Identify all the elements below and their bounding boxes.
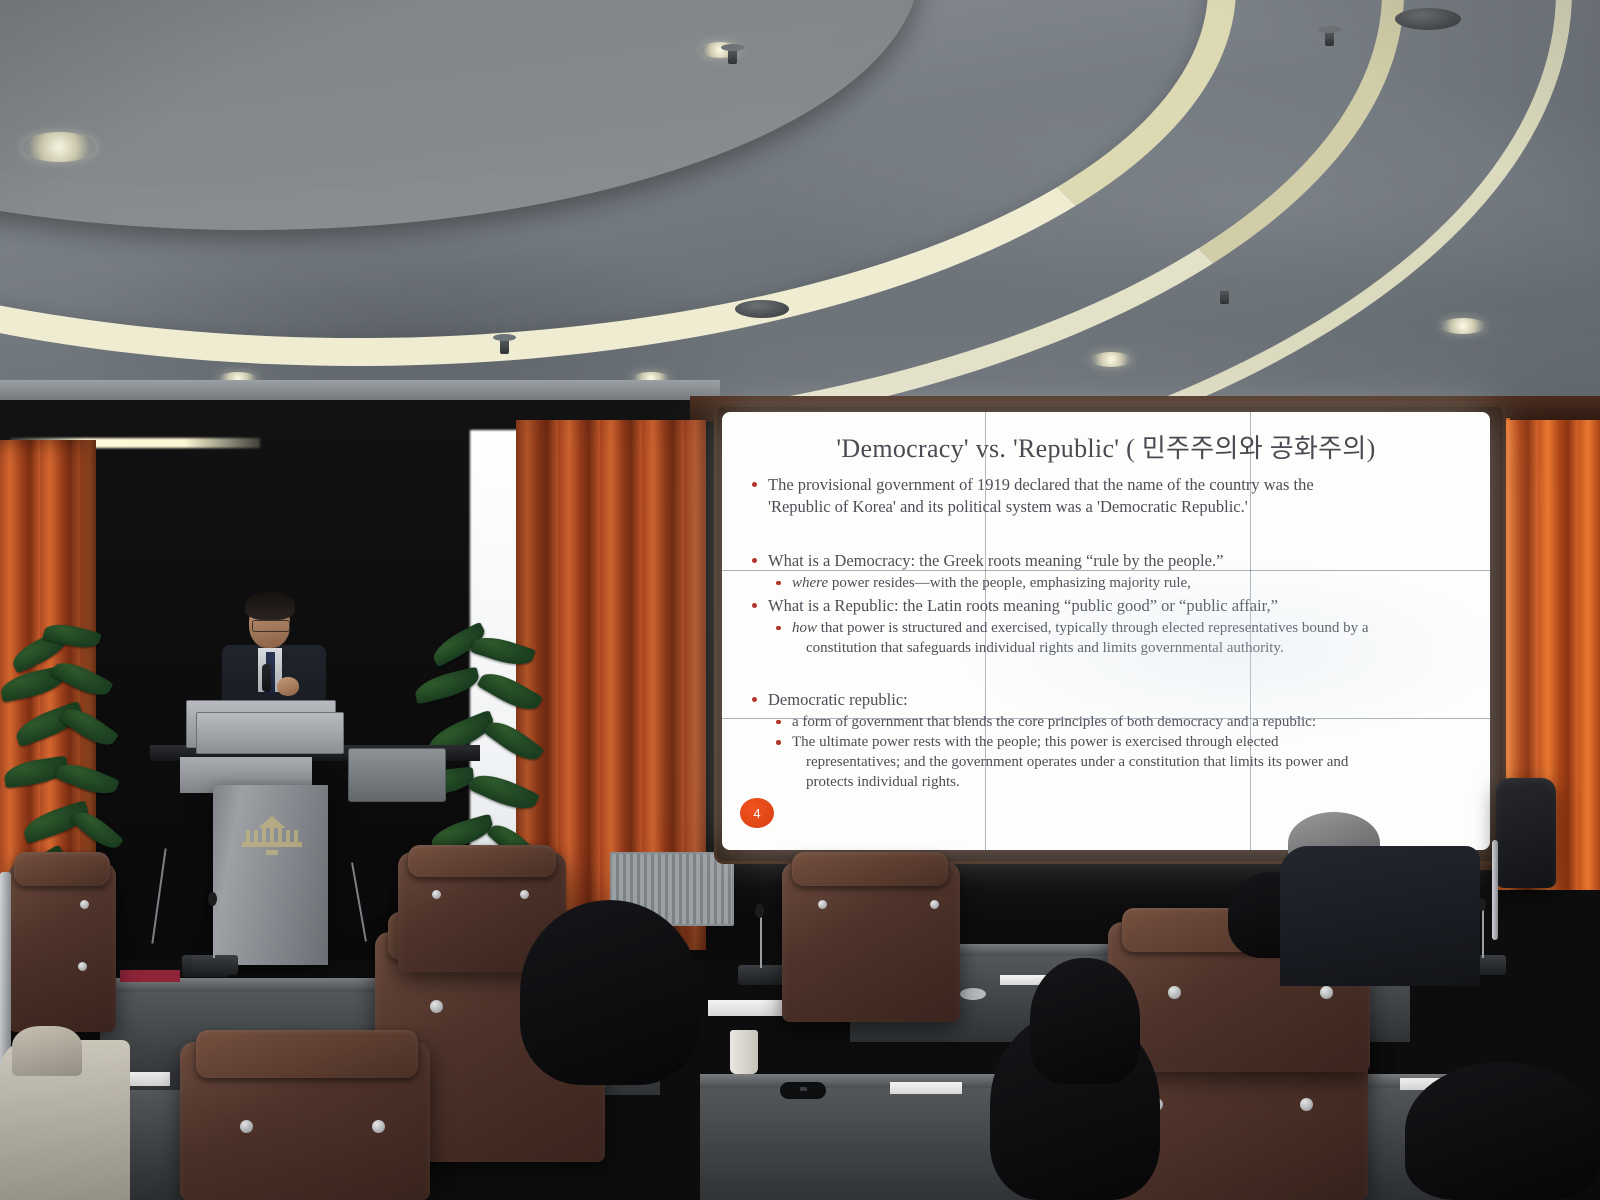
bullet-text-cont: 'Republic of Korea' and its political sy… xyxy=(768,496,1472,518)
ceiling-speaker-icon xyxy=(735,300,789,318)
conference-microphone-neck xyxy=(1482,906,1484,958)
ceiling-speaker-icon xyxy=(1395,8,1461,30)
presentation-screen[interactable]: 'Democracy' vs. 'Republic' ( 민주주의와 공화주의)… xyxy=(722,412,1490,850)
glasses-icon xyxy=(252,620,290,632)
sprinkler-icon xyxy=(1325,30,1334,46)
conference-microphone-base xyxy=(738,965,786,985)
sprinkler-icon xyxy=(500,338,509,354)
screen-glare xyxy=(962,562,1490,742)
coffee-cup xyxy=(730,1030,758,1074)
presenter-hand xyxy=(277,677,299,696)
conference-microphone-neck xyxy=(213,900,215,958)
red-notebook xyxy=(120,970,180,982)
downlight-icon xyxy=(1090,352,1132,367)
bullet-text-cont: representatives; and the government oper… xyxy=(792,753,1472,773)
audience-member-shoulder xyxy=(12,1026,82,1076)
slide-bullet-level2: The ultimate power rests with the people… xyxy=(746,733,1472,793)
sprinkler-icon xyxy=(728,48,737,64)
handheld-microphone-icon xyxy=(262,664,271,692)
conference-microphone-capsule xyxy=(208,892,217,906)
standing-person-jacket xyxy=(1280,846,1480,986)
audience-member-hair xyxy=(520,900,700,1085)
bullet-text: Democratic republic: xyxy=(768,690,908,709)
name-card xyxy=(890,1082,962,1094)
conference-microphone-base xyxy=(192,955,238,975)
conference-microphone-capsule xyxy=(755,904,764,918)
podium-monitor-secondary xyxy=(196,712,344,754)
slide-page-badge: 4 xyxy=(740,798,774,828)
slide-title: 'Democracy' vs. 'Republic' ( 민주주의와 공화주의) xyxy=(722,428,1490,465)
sprinkler-icon xyxy=(1220,288,1229,304)
slide-block: The provisional government of 1919 decla… xyxy=(746,474,1472,518)
downlight-icon xyxy=(1440,318,1486,334)
slide-bullet-level1: The provisional government of 1919 decla… xyxy=(746,474,1472,518)
audience-member-hair xyxy=(1030,958,1140,1084)
downlight-icon xyxy=(22,132,96,162)
table-puck xyxy=(960,988,986,1000)
sunglasses xyxy=(780,1082,826,1099)
bullet-emphasis: how xyxy=(792,620,817,636)
podium-emblem-icon xyxy=(236,812,308,864)
lecture-hall-photo: 'Democracy' vs. 'Republic' ( 민주주의와 공화주의)… xyxy=(0,0,1600,1200)
podium-laptop xyxy=(348,748,446,802)
bullet-text-cont: protects individual rights. xyxy=(792,773,1472,793)
presenter-hair xyxy=(245,592,295,620)
bullet-text: The provisional government of 1919 decla… xyxy=(768,475,1314,494)
audience-member-hair xyxy=(1405,1062,1600,1200)
bullet-emphasis: where xyxy=(792,575,828,591)
conference-microphone-neck xyxy=(760,912,762,968)
